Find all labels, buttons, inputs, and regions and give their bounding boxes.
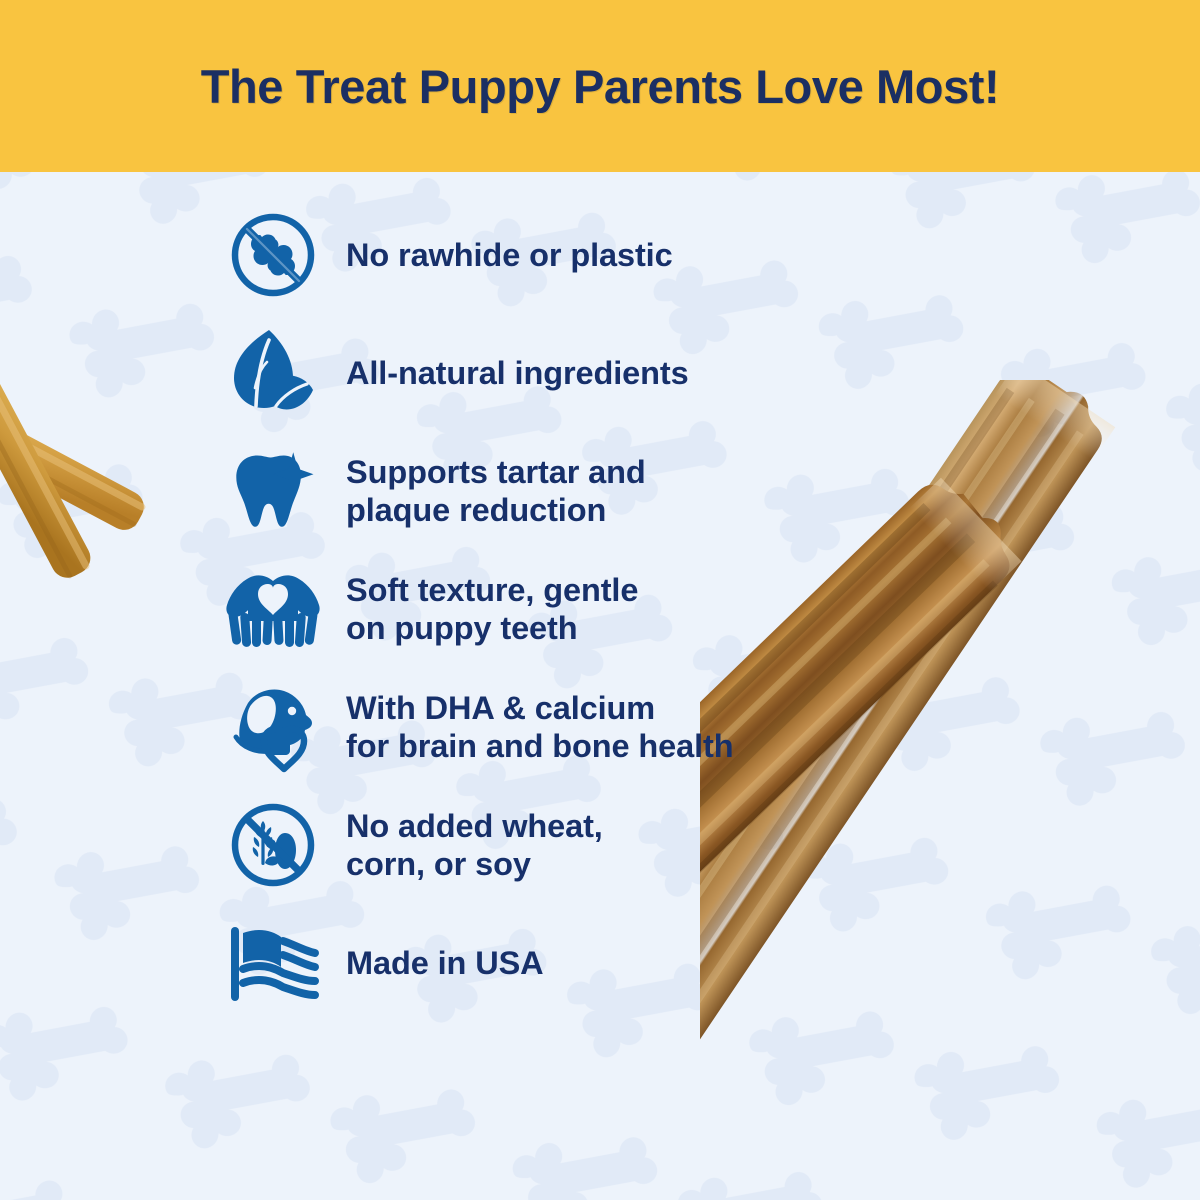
feature-item-all-natural: All-natural ingredients xyxy=(222,314,942,432)
header-banner: The Treat Puppy Parents Love Most! xyxy=(0,0,1200,172)
feature-item-made-in-usa: Made in USA xyxy=(222,904,942,1022)
feature-item-dha-calcium: With DHA & calcium for brain and bone he… xyxy=(222,668,942,786)
leaf-icon xyxy=(222,325,324,421)
feature-list: No rawhide or plastic All-natural ingred… xyxy=(222,196,942,1022)
page-title: The Treat Puppy Parents Love Most! xyxy=(201,59,1000,114)
feature-label: No added wheat, corn, or soy xyxy=(346,807,603,884)
usa-flag-icon xyxy=(222,915,324,1011)
feature-item-no-grain: No added wheat, corn, or soy xyxy=(222,786,942,904)
feature-label: Supports tartar and plaque reduction xyxy=(346,453,646,530)
infographic-canvas: The Treat Puppy Parents Love Most! xyxy=(0,0,1200,1200)
feature-label: All-natural ingredients xyxy=(346,354,689,392)
hands-heart-icon xyxy=(222,561,324,657)
feature-label: No rawhide or plastic xyxy=(346,236,673,274)
product-photo-left-chews xyxy=(0,318,252,648)
feature-item-soft-texture: Soft texture, gentle on puppy teeth xyxy=(222,550,942,668)
sparkling-tooth-icon xyxy=(222,443,324,539)
no-grain-icon xyxy=(222,797,324,893)
feature-label: With DHA & calcium for brain and bone he… xyxy=(346,689,734,766)
feature-label: Made in USA xyxy=(346,944,544,982)
feature-item-tartar: Supports tartar and plaque reduction xyxy=(222,432,942,550)
no-rawhide-icon xyxy=(222,207,324,303)
feature-item-no-rawhide: No rawhide or plastic xyxy=(222,196,942,314)
feature-label: Soft texture, gentle on puppy teeth xyxy=(346,571,638,648)
dog-heart-icon xyxy=(222,679,324,775)
